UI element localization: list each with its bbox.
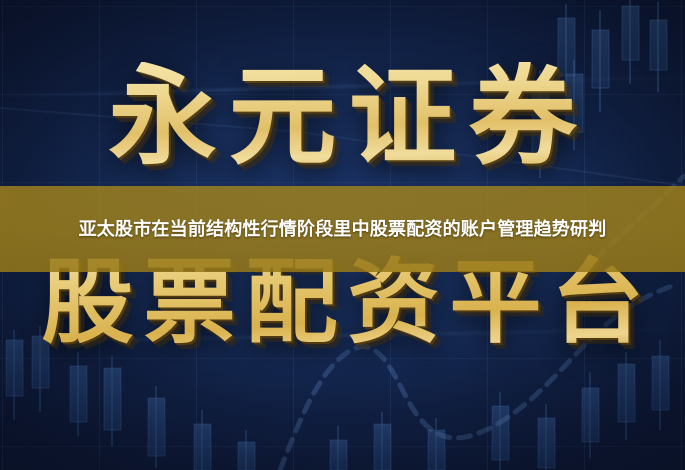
title-overlay-band: 亚太股市在当前结构性行情阶段里中股票配资的账户管理趋势研判	[0, 186, 685, 272]
banner-image: 永元证券 股票配资平台 亚太股市在当前结构性行情阶段里中股票配资的账户管理趋势研…	[0, 0, 685, 470]
brand-wordmark-primary: 永元证券	[0, 62, 685, 174]
article-title: 亚太股市在当前结构性行情阶段里中股票配资的账户管理趋势研判	[14, 217, 671, 242]
